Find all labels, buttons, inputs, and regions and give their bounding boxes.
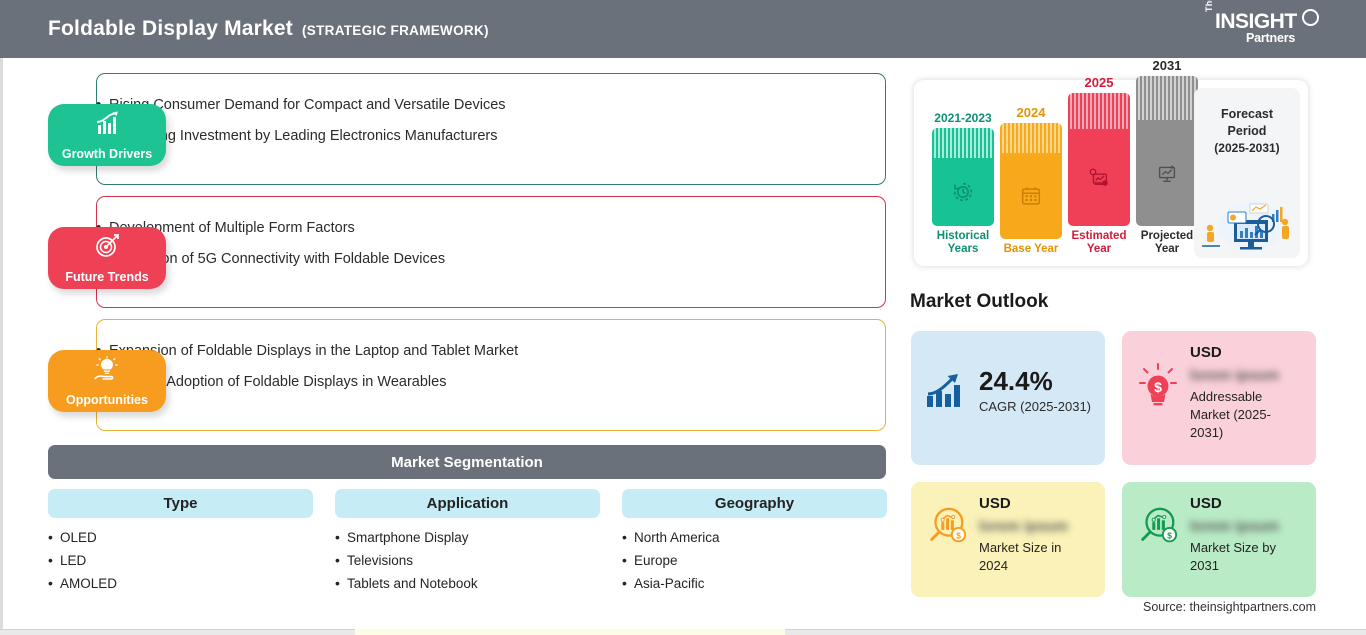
lightbulb-hand-icon bbox=[92, 356, 122, 382]
list-item: Integration of 5G Connectivity with Fold… bbox=[96, 250, 796, 270]
currency-label: USD bbox=[1190, 495, 1222, 512]
timeline-caption: Estimated Year bbox=[1068, 230, 1130, 256]
timeline-year-label: 2025 bbox=[1068, 75, 1130, 90]
timeline-year-label: 2024 bbox=[1000, 105, 1062, 120]
clock-history-icon bbox=[951, 180, 975, 204]
list-item: Europe bbox=[622, 553, 887, 568]
outlook-card-cagr: 24.4% CAGR (2025-2031) bbox=[911, 331, 1105, 465]
forecast-title-line1: Forecast bbox=[1194, 106, 1300, 123]
logo-partners-text: Partners bbox=[1246, 31, 1295, 45]
data-analysis-illustration bbox=[1194, 190, 1300, 252]
forecast-period-panel: Forecast Period (2025-2031) bbox=[1194, 88, 1300, 258]
left-edge-divider bbox=[0, 58, 3, 635]
gear-chart-icon bbox=[1087, 165, 1111, 189]
svg-text:$: $ bbox=[956, 530, 961, 540]
badge-label: Future Trends bbox=[65, 270, 148, 284]
timeline-caption: Projected Year bbox=[1136, 230, 1198, 256]
market-size-2031-label: Market Size by 2031 bbox=[1190, 540, 1276, 573]
logo-the-text: The bbox=[1204, 0, 1214, 12]
market-segmentation-title: Market Segmentation bbox=[391, 454, 543, 471]
list-item: Asia-Pacific bbox=[622, 576, 887, 591]
list-item: LED bbox=[48, 553, 313, 568]
page-header: Foldable Display Market (STRATEGIC FRAME… bbox=[0, 0, 1366, 58]
list-item: Increasing Investment by Leading Electro… bbox=[96, 127, 796, 147]
market-size-2024-label: Market Size in 2024 bbox=[979, 540, 1061, 573]
target-dart-icon bbox=[92, 233, 122, 259]
page-subtitle: (STRATEGIC FRAMEWORK) bbox=[302, 23, 489, 38]
cagr-label: CAGR (2025-2031) bbox=[979, 399, 1091, 414]
study-period-timeline-chart: 2021-2023 Historical Years 2024 bbox=[914, 80, 1308, 266]
segmentation-column-header: Geography bbox=[622, 489, 887, 518]
segmentation-item-list: OLED LED AMOLED bbox=[48, 530, 313, 591]
svg-text:$: $ bbox=[1154, 379, 1162, 395]
timeline-bar-stripe bbox=[1000, 123, 1062, 153]
segmentation-column-application: Application Smartphone Display Televisio… bbox=[335, 489, 600, 599]
timeline-bar-stripe bbox=[932, 128, 994, 158]
segmentation-item-list: Smartphone Display Televisions Tablets a… bbox=[335, 530, 600, 591]
forecast-title-line2: Period bbox=[1194, 123, 1300, 140]
list-item: Expansion of Foldable Displays in the La… bbox=[96, 342, 796, 362]
badge-opportunities[interactable]: Opportunities bbox=[48, 350, 166, 412]
list-item: Televisions bbox=[335, 553, 600, 568]
timeline-bar-solid bbox=[1136, 120, 1198, 226]
market-size-2024-value: lorem ipsum bbox=[979, 518, 1091, 535]
timeline-caption: Historical Years bbox=[932, 230, 994, 256]
scrollbar-thumb[interactable] bbox=[355, 629, 785, 635]
market-segmentation-header: Market Segmentation bbox=[48, 445, 886, 479]
outlook-card-addressable-market: $ USD lorem ipsum Addressable Market (20… bbox=[1122, 331, 1316, 465]
segmentation-column-title: Geography bbox=[715, 495, 794, 512]
badge-growth-drivers[interactable]: Growth Drivers bbox=[48, 104, 166, 166]
list-item: Growing Adoption of Foldable Displays in… bbox=[96, 373, 796, 393]
currency-label: USD bbox=[979, 495, 1011, 512]
timeline-bar-estimated: 2025 Estimated Year bbox=[1068, 75, 1130, 256]
forecast-period-text: Forecast Period (2025-2031) bbox=[1194, 88, 1300, 156]
timeline-bar-solid bbox=[932, 158, 994, 226]
timeline-caption: Base Year bbox=[1000, 243, 1062, 256]
list-item: Smartphone Display bbox=[335, 530, 600, 545]
list-item: AMOLED bbox=[48, 576, 313, 591]
outlook-card-market-size-2024: $ USD lorem ipsum Market Size in 2024 bbox=[911, 482, 1105, 597]
horizontal-scrollbar[interactable] bbox=[0, 629, 1366, 635]
segmentation-column-header: Application bbox=[335, 489, 600, 518]
currency-label: USD bbox=[1190, 344, 1222, 361]
timeline-bar-projected: 2031 Projected Year bbox=[1136, 58, 1198, 256]
badge-label: Growth Drivers bbox=[62, 147, 152, 161]
magnifier-chart-dollar-icon: $ bbox=[1136, 505, 1180, 549]
timeline-bar bbox=[932, 128, 994, 226]
insight-partners-logo: The INSIGHT Partners bbox=[1204, 8, 1324, 52]
segmentation-column-geography: Geography North America Europe Asia-Paci… bbox=[622, 489, 887, 599]
calendar-icon bbox=[1019, 184, 1043, 208]
badge-future-trends[interactable]: Future Trends bbox=[48, 227, 166, 289]
source-attribution: Source: theinsightpartners.com bbox=[1143, 600, 1316, 614]
timeline-year-label: 2021-2023 bbox=[932, 111, 994, 125]
timeline-bar-solid bbox=[1068, 129, 1130, 226]
list-item: Tablets and Notebook bbox=[335, 576, 600, 591]
list-item: Development of Multiple Form Factors bbox=[96, 219, 796, 239]
infographic-page: Foldable Display Market (STRATEGIC FRAME… bbox=[0, 0, 1366, 635]
addressable-market-label: Addressable Market (2025-2031) bbox=[1190, 389, 1271, 440]
logo-circle-icon bbox=[1302, 9, 1319, 26]
timeline-bar-stripe bbox=[1068, 93, 1130, 129]
growth-drivers-bullet-list: Rising Consumer Demand for Compact and V… bbox=[96, 96, 796, 157]
segmentation-item-list: North America Europe Asia-Pacific bbox=[622, 530, 887, 591]
badge-label: Opportunities bbox=[66, 393, 148, 407]
list-item: OLED bbox=[48, 530, 313, 545]
bar-chart-arrow-icon bbox=[925, 372, 969, 410]
segmentation-column-title: Application bbox=[427, 495, 509, 512]
svg-text:$: $ bbox=[1167, 530, 1172, 540]
timeline-bar-base: 2024 Base Year bbox=[1000, 105, 1062, 256]
timeline-bar bbox=[1068, 93, 1130, 226]
opportunities-bullet-list: Expansion of Foldable Displays in the La… bbox=[96, 342, 796, 403]
addressable-market-value: lorem ipsum bbox=[1190, 367, 1302, 384]
list-item: Rising Consumer Demand for Compact and V… bbox=[96, 96, 796, 116]
presentation-chart-icon bbox=[1155, 161, 1179, 185]
future-trends-bullet-list: Development of Multiple Form Factors Int… bbox=[96, 219, 796, 280]
magnifier-chart-dollar-icon: $ bbox=[925, 505, 969, 549]
timeline-bar-historical: 2021-2023 Historical Years bbox=[932, 111, 994, 256]
market-outlook-title: Market Outlook bbox=[910, 291, 1048, 313]
segmentation-column-type: Type OLED LED AMOLED bbox=[48, 489, 313, 599]
timeline-year-label: 2031 bbox=[1136, 58, 1198, 73]
cagr-value: 24.4% bbox=[979, 368, 1091, 394]
list-item: North America bbox=[622, 530, 887, 545]
segmentation-column-header: Type bbox=[48, 489, 313, 518]
page-title: Foldable Display Market bbox=[48, 17, 293, 41]
outlook-card-market-size-2031: $ USD lorem ipsum Market Size by 2031 bbox=[1122, 482, 1316, 597]
timeline-bar-stripe bbox=[1136, 76, 1198, 120]
market-size-2031-value: lorem ipsum bbox=[1190, 518, 1302, 535]
forecast-range: (2025-2031) bbox=[1194, 140, 1300, 156]
bar-chart-up-icon bbox=[92, 110, 122, 136]
lightbulb-dollar-icon: $ bbox=[1136, 360, 1180, 410]
timeline-bar bbox=[1136, 76, 1198, 226]
timeline-bar-solid bbox=[1000, 153, 1062, 239]
timeline-bar bbox=[1000, 123, 1062, 239]
segmentation-column-title: Type bbox=[164, 495, 198, 512]
